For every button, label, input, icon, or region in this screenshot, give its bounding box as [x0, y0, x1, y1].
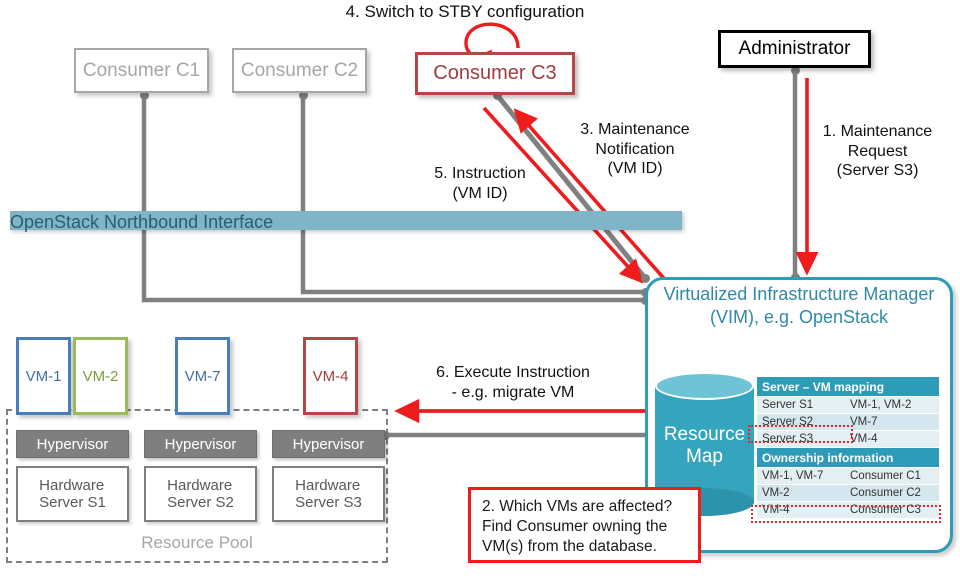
cell-server-s3: Server S3 [757, 431, 845, 448]
hardware-server-s3: Hardware Server S3 [272, 466, 385, 522]
hypervisor-s3: Hypervisor [272, 430, 385, 458]
cell-owner-consumer-2: Consumer C2 [845, 485, 939, 502]
vm-4-label: VM-4 [313, 368, 349, 385]
resource-map-cylinder-top [655, 372, 754, 400]
step1-label: 1. Maintenance Request (Server S3) [800, 122, 955, 181]
step3-label: 3. Maintenance Notification (VM ID) [560, 120, 710, 179]
cell-owner-consumer-3: Consumer C3 [845, 502, 939, 519]
vim-title-line2: (VIM), e.g. OpenStack [650, 306, 948, 329]
administrator-box[interactable]: Administrator [718, 30, 871, 68]
anchor-dot-vim-corner [641, 274, 650, 283]
hypervisor-s3-label: Hypervisor [293, 436, 365, 453]
step5-label: 5. Instruction (VM ID) [400, 164, 560, 203]
table-row: Server S1 VM-1, VM-2 [757, 397, 939, 414]
cell-owner-vms-3: VM-4 [757, 502, 845, 519]
step2-callout: 2. Which VMs are affected? Find Consumer… [468, 487, 701, 563]
vm-2-label: VM-2 [83, 368, 119, 385]
cell-server-s2: Server S2 [757, 414, 845, 431]
consumer-c3-box[interactable]: Consumer C3 [415, 52, 575, 95]
cell-server-s3-vms: VM-4 [845, 431, 939, 448]
cell-owner-vms-2: VM-2 [757, 485, 845, 502]
vm-1-label: VM-1 [26, 368, 62, 385]
vm-7-label: VM-7 [185, 368, 221, 385]
cell-server-s1: Server S1 [757, 397, 845, 414]
resource-map-line1: Resource [655, 424, 754, 446]
resource-map-line2: Map [655, 446, 754, 468]
vm-7-box[interactable]: VM-7 [175, 337, 230, 415]
openstack-northbound-label: OpenStack Northbound Interface [10, 212, 273, 233]
administrator-label: Administrator [739, 38, 851, 60]
consumer-c1-box[interactable]: Consumer C1 [74, 48, 209, 93]
vim-title-line1: Virtualized Infrastructure Manager [650, 283, 948, 306]
consumer-c2-box[interactable]: Consumer C2 [232, 48, 367, 93]
consumer-c1-label: Consumer C1 [83, 60, 200, 82]
hypervisor-s1: Hypervisor [16, 430, 129, 458]
table-section1-header: Server – VM mapping [757, 377, 939, 397]
table-section2-header: Ownership information [757, 448, 939, 468]
resource-pool-label: Resource Pool [6, 533, 388, 553]
vim-title: Virtualized Infrastructure Manager (VIM)… [650, 283, 948, 328]
table-row: VM-2 Consumer C2 [757, 485, 939, 502]
hardware-s3-line2: Server S3 [295, 494, 362, 511]
cell-owner-vms-1: VM-1, VM-7 [757, 468, 845, 485]
hardware-server-s2: Hardware Server S2 [144, 466, 257, 522]
consumer-c2-label: Consumer C2 [241, 60, 358, 82]
hardware-s1-line1: Hardware [39, 477, 106, 494]
hardware-s3-line1: Hardware [295, 477, 362, 494]
table-section2-header-row: Ownership information [757, 448, 939, 468]
vm-1-box[interactable]: VM-1 [16, 337, 71, 415]
resource-map-table: Server – VM mapping Server S1 VM-1, VM-2… [757, 377, 939, 519]
vm-4-box[interactable]: VM-4 [303, 337, 358, 415]
table-row-highlighted: Server S3 VM-4 [757, 431, 939, 448]
step2-text: 2. Which VMs are affected? Find Consumer… [482, 498, 672, 555]
hardware-server-s1: Hardware Server S1 [16, 466, 129, 522]
table-row: VM-1, VM-7 Consumer C1 [757, 468, 939, 485]
table-row-highlighted: VM-4 Consumer C3 [757, 502, 939, 519]
cell-owner-consumer-1: Consumer C1 [845, 468, 939, 485]
step6-label: 6. Execute Instruction - e.g. migrate VM [398, 363, 628, 402]
table-row: Server S2 VM-7 [757, 414, 939, 431]
resource-map-label: Resource Map [655, 424, 754, 468]
step4-label: 4. Switch to STBY configuration [325, 2, 605, 23]
cell-server-s2-vms: VM-7 [845, 414, 939, 431]
table-body: Server – VM mapping Server S1 VM-1, VM-2… [757, 377, 939, 519]
consumer-c3-label: Consumer C3 [433, 62, 556, 85]
hardware-s1-line2: Server S1 [39, 494, 106, 511]
hardware-s2-line1: Hardware [167, 477, 234, 494]
cell-server-s1-vms: VM-1, VM-2 [845, 397, 939, 414]
vm-2-box[interactable]: VM-2 [73, 337, 128, 415]
hardware-s2-line2: Server S2 [167, 494, 234, 511]
table-section1-header-row: Server – VM mapping [757, 377, 939, 397]
hypervisor-s2-label: Hypervisor [165, 436, 237, 453]
hypervisor-s2: Hypervisor [144, 430, 257, 458]
hypervisor-s1-label: Hypervisor [37, 436, 109, 453]
diagram-canvas: Consumer C1 Consumer C2 Consumer C3 Admi… [0, 0, 960, 586]
